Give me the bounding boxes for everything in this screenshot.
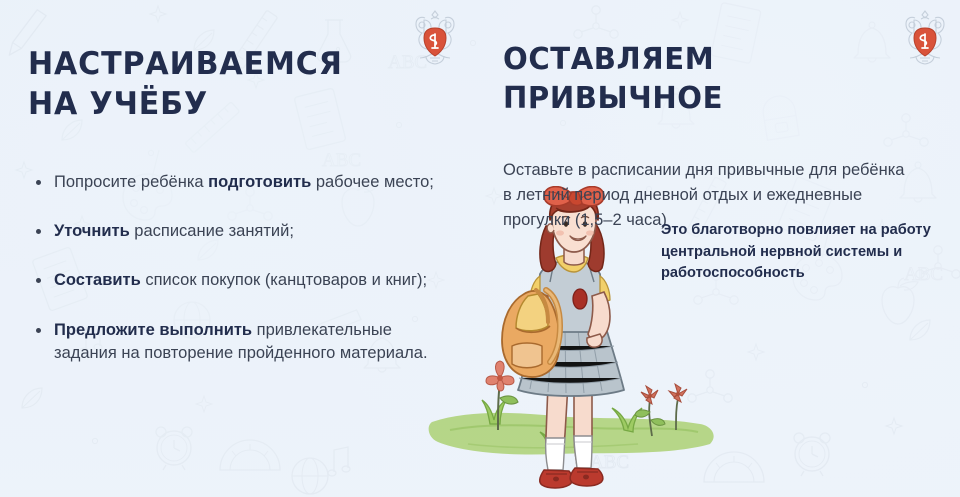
list-item: Составить список покупок (канцтоваров и … — [28, 269, 446, 292]
left-bullet-list: Попросите ребёнка подготовить рабочее ме… — [28, 171, 448, 366]
bullet-dot-icon — [36, 229, 41, 234]
bullet-dot-icon — [36, 278, 41, 283]
ministry-of-health-emblem-icon — [902, 6, 948, 68]
list-item: Предложите выполнить привлекательные зад… — [28, 319, 446, 366]
bullet-text: Уточнить расписание занятий; — [54, 222, 294, 240]
right-heading: ОСТАВЛЯЕМ ПРИВЫЧНОЕ — [503, 40, 920, 118]
right-column: ОСТАВЛЯЕМ ПРИВЫЧНОЕ Оставьте в расписани… — [503, 40, 933, 233]
bullet-dot-icon — [36, 328, 41, 333]
left-heading: НАСТРАИВАЕМСЯ НА УЧЁБУ — [28, 44, 435, 125]
grass-ground — [429, 413, 714, 455]
left-column: НАСТРАИВАЕМСЯ НА УЧЁБУ Попросите ребёнка… — [28, 44, 448, 366]
benefit-callout: Это благотворно повлияет на работу центр… — [661, 220, 933, 285]
bullet-dot-icon — [36, 180, 41, 185]
bullet-text: Попросите ребёнка подготовить рабочее ме… — [54, 173, 434, 191]
poster-root: ABC — [0, 0, 960, 497]
bullet-text: Составить список покупок (канцтоваров и … — [54, 271, 427, 289]
bullet-text: Предложите выполнить привлекательные зад… — [54, 321, 428, 362]
ministry-of-health-emblem-icon — [412, 6, 458, 68]
backpack — [502, 290, 560, 377]
list-item: Попросите ребёнка подготовить рабочее ме… — [28, 171, 446, 194]
list-item: Уточнить расписание занятий; — [28, 220, 446, 243]
